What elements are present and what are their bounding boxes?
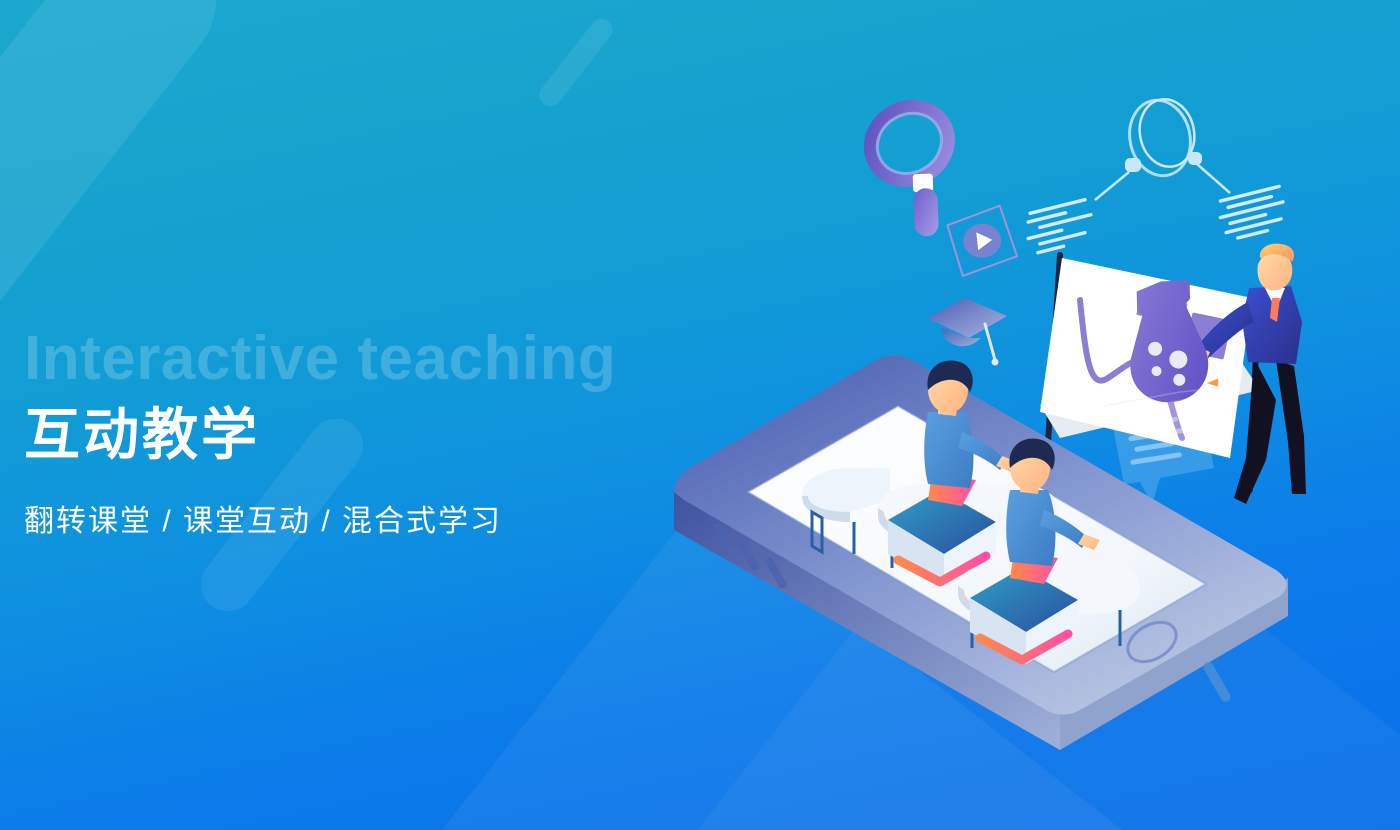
isometric-classroom-illustration — [640, 60, 1380, 800]
ghost-title: Interactive teaching — [24, 328, 616, 390]
background-stripe-small — [535, 14, 617, 110]
interactive-teaching-banner: Interactive teaching 互动教学 翻转课堂 / 课堂互动 / … — [0, 0, 1400, 830]
page-subtitle: 翻转课堂 / 课堂互动 / 混合式学习 — [24, 496, 502, 540]
play-button-icon — [946, 204, 1019, 277]
page-title: 互动教学 — [24, 406, 260, 465]
graduation-cap-icon — [927, 298, 1007, 366]
idea-loop-icon — [1020, 94, 1291, 256]
magnifier-icon — [855, 92, 991, 246]
